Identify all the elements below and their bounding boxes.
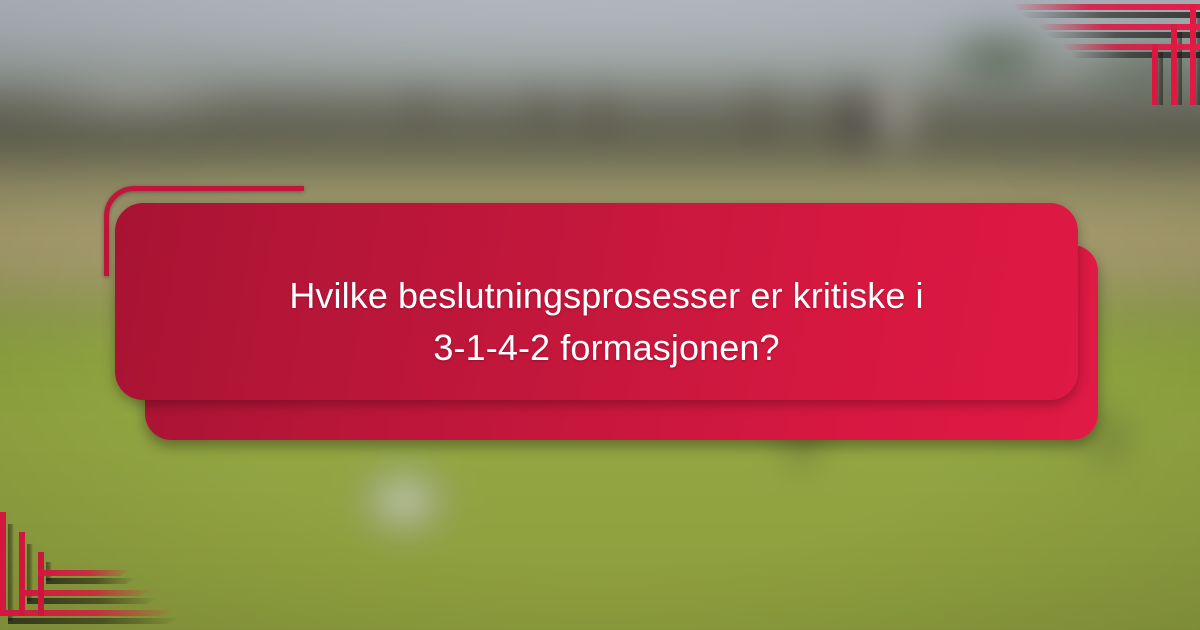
question-headline: Hvilke beslutningsprosesser er kritiske … bbox=[115, 203, 1098, 440]
headline-line-1: Hvilke beslutningsprosesser er kritiske … bbox=[289, 270, 923, 322]
question-card-group: Hvilke beslutningsprosesser er kritiske … bbox=[0, 0, 1200, 630]
poster-canvas: Hvilke beslutningsprosesser er kritiske … bbox=[0, 0, 1200, 630]
headline-line-2: 3-1-4-2 formasjonen? bbox=[433, 322, 779, 374]
